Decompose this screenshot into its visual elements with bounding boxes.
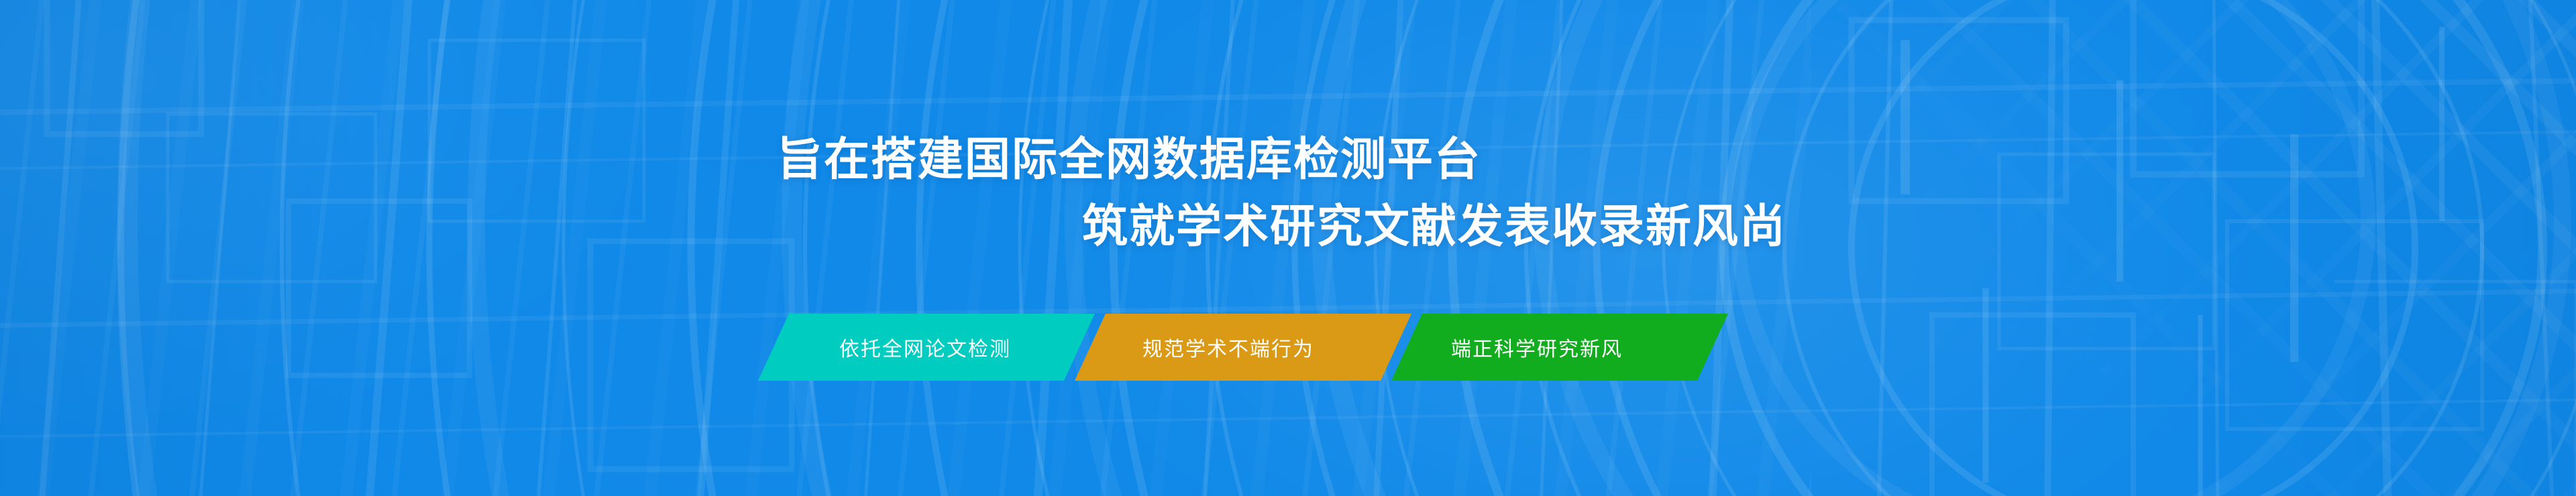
- feature-tag-shape-2[interactable]: [1391, 314, 1728, 381]
- feature-tag-shape-1[interactable]: [1075, 314, 1411, 381]
- feature-tag-shapes: [751, 314, 1825, 381]
- headline-line-1: 旨在搭建国际全网数据库检测平台: [777, 137, 1481, 182]
- promo-banner: 旨在搭建国际全网数据库检测平台 筑就学术研究文献发表收录新风尚 依托全网论文检测…: [0, 0, 2576, 496]
- feature-tag-shape-0[interactable]: [758, 314, 1095, 381]
- feature-tag-band: 依托全网论文检测 规范学术不端行为 端正科学研究新风: [751, 314, 1825, 381]
- headline-block: 旨在搭建国际全网数据库检测平台 筑就学术研究文献发表收录新风尚: [0, 0, 2576, 496]
- headline-line-2: 筑就学术研究文献发表收录新风尚: [1082, 204, 1786, 249]
